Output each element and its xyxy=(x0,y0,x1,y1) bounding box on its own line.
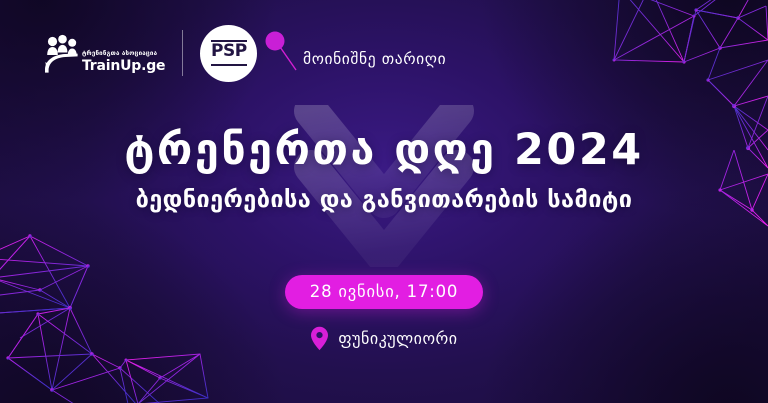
psp-logo[interactable]: PSP xyxy=(200,25,257,82)
venue-label: ფუნიკულიორი xyxy=(338,329,457,348)
event-banner: ტრენინგთა ასოციაცია TrainUp.ge PSP მოინი… xyxy=(0,0,768,403)
trainup-georgian-tagline: ტრენინგთა ასოციაცია xyxy=(82,51,165,57)
vertical-divider xyxy=(182,30,183,76)
eyebrow-label: მოინიშნე თარიღი xyxy=(303,50,446,68)
pushpin-icon xyxy=(262,28,306,74)
date-badge[interactable]: 28 ივნისი, 17:00 xyxy=(285,275,483,309)
trainup-logo[interactable]: ტრენინგთა ასოციაცია TrainUp.ge xyxy=(44,33,165,73)
logo-row: ტრენინგთა ასოციაცია TrainUp.ge PSP xyxy=(44,22,257,84)
page-title: ტრენერთა დღე 2024 xyxy=(0,128,768,174)
three-people-swoosh-icon xyxy=(44,33,78,73)
page-subtitle: ბედნიერებისა და განვითარების სამიტი xyxy=(0,185,768,213)
eyebrow-callout: მოინიშნე თარიღი xyxy=(262,28,446,74)
venue-row: ფუნიკულიორი xyxy=(0,326,768,351)
psp-logo-label: PSP xyxy=(211,40,247,66)
trainup-latin-name: TrainUp.ge xyxy=(82,59,165,73)
map-marker-icon xyxy=(310,326,329,351)
headline-block: ტრენერთა დღე 2024 ბედნიერებისა და განვით… xyxy=(0,128,768,213)
polygon-network-icon xyxy=(0,218,230,403)
date-badge-wrap: 28 ივნისი, 17:00 xyxy=(0,275,768,309)
